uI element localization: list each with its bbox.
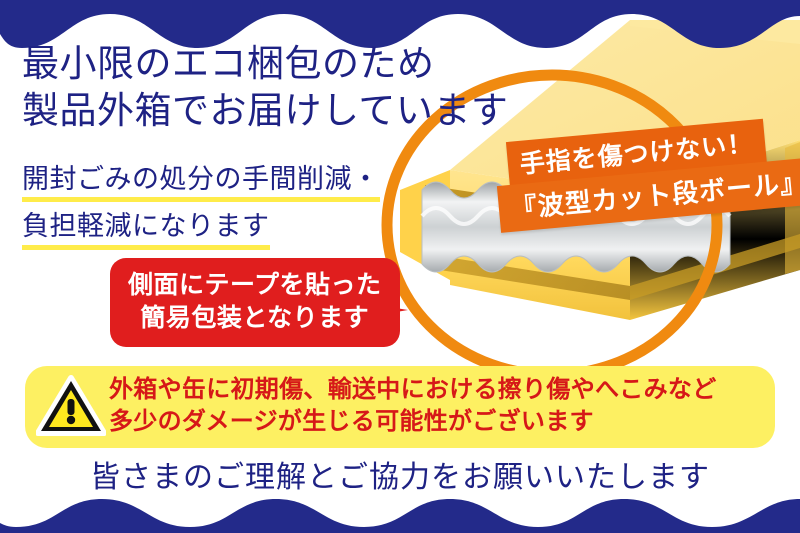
warning-text: 外箱や缶に初期傷、輸送中における擦り傷やへこみなど 多少のダメージが生じる可能性…: [109, 374, 775, 438]
red-callout: 側面にテープを貼った 簡易包装となります: [110, 258, 400, 347]
red-callout-line-1: 側面にテープを貼った: [128, 269, 382, 302]
warning-line-2: 多少のダメージが生じる可能性がございます: [109, 406, 775, 438]
warning-triangle-icon: [33, 373, 109, 439]
warning-line-1: 外箱や缶に初期傷、輸送中における擦り傷やへこみなど: [109, 374, 775, 406]
subheading-row-1: 開封ごみの処分の手間削減・: [22, 160, 380, 200]
subheading-line-1: 開封ごみの処分の手間削減・: [22, 160, 380, 200]
packaging-notice-banner: 最小限のエコ梱包のため 製品外箱でお届けしています 開封ごみの処分の手間削減・ …: [0, 0, 800, 533]
heading-line-2: 製品外箱でお届けしています: [22, 87, 508, 134]
subheading-line-2: 負担軽減になります: [22, 207, 270, 247]
red-callout-line-2: 簡易包装となります: [128, 302, 382, 335]
subheading: 開封ごみの処分の手間削減・ 負担軽減になります: [22, 160, 380, 255]
warning-box: 外箱や缶に初期傷、輸送中における擦り傷やへこみなど 多少のダメージが生じる可能性…: [25, 366, 775, 448]
heading-line-1: 最小限のエコ梱包のため: [22, 40, 508, 87]
red-callout-bubble: 側面にテープを貼った 簡易包装となります: [110, 258, 400, 347]
closing-message: 皆さまのご理解とご協力をお願いいたします: [0, 452, 800, 496]
subheading-row-2: 負担軽減になります: [22, 207, 380, 247]
page-title: 最小限のエコ梱包のため 製品外箱でお届けしています: [22, 40, 508, 135]
